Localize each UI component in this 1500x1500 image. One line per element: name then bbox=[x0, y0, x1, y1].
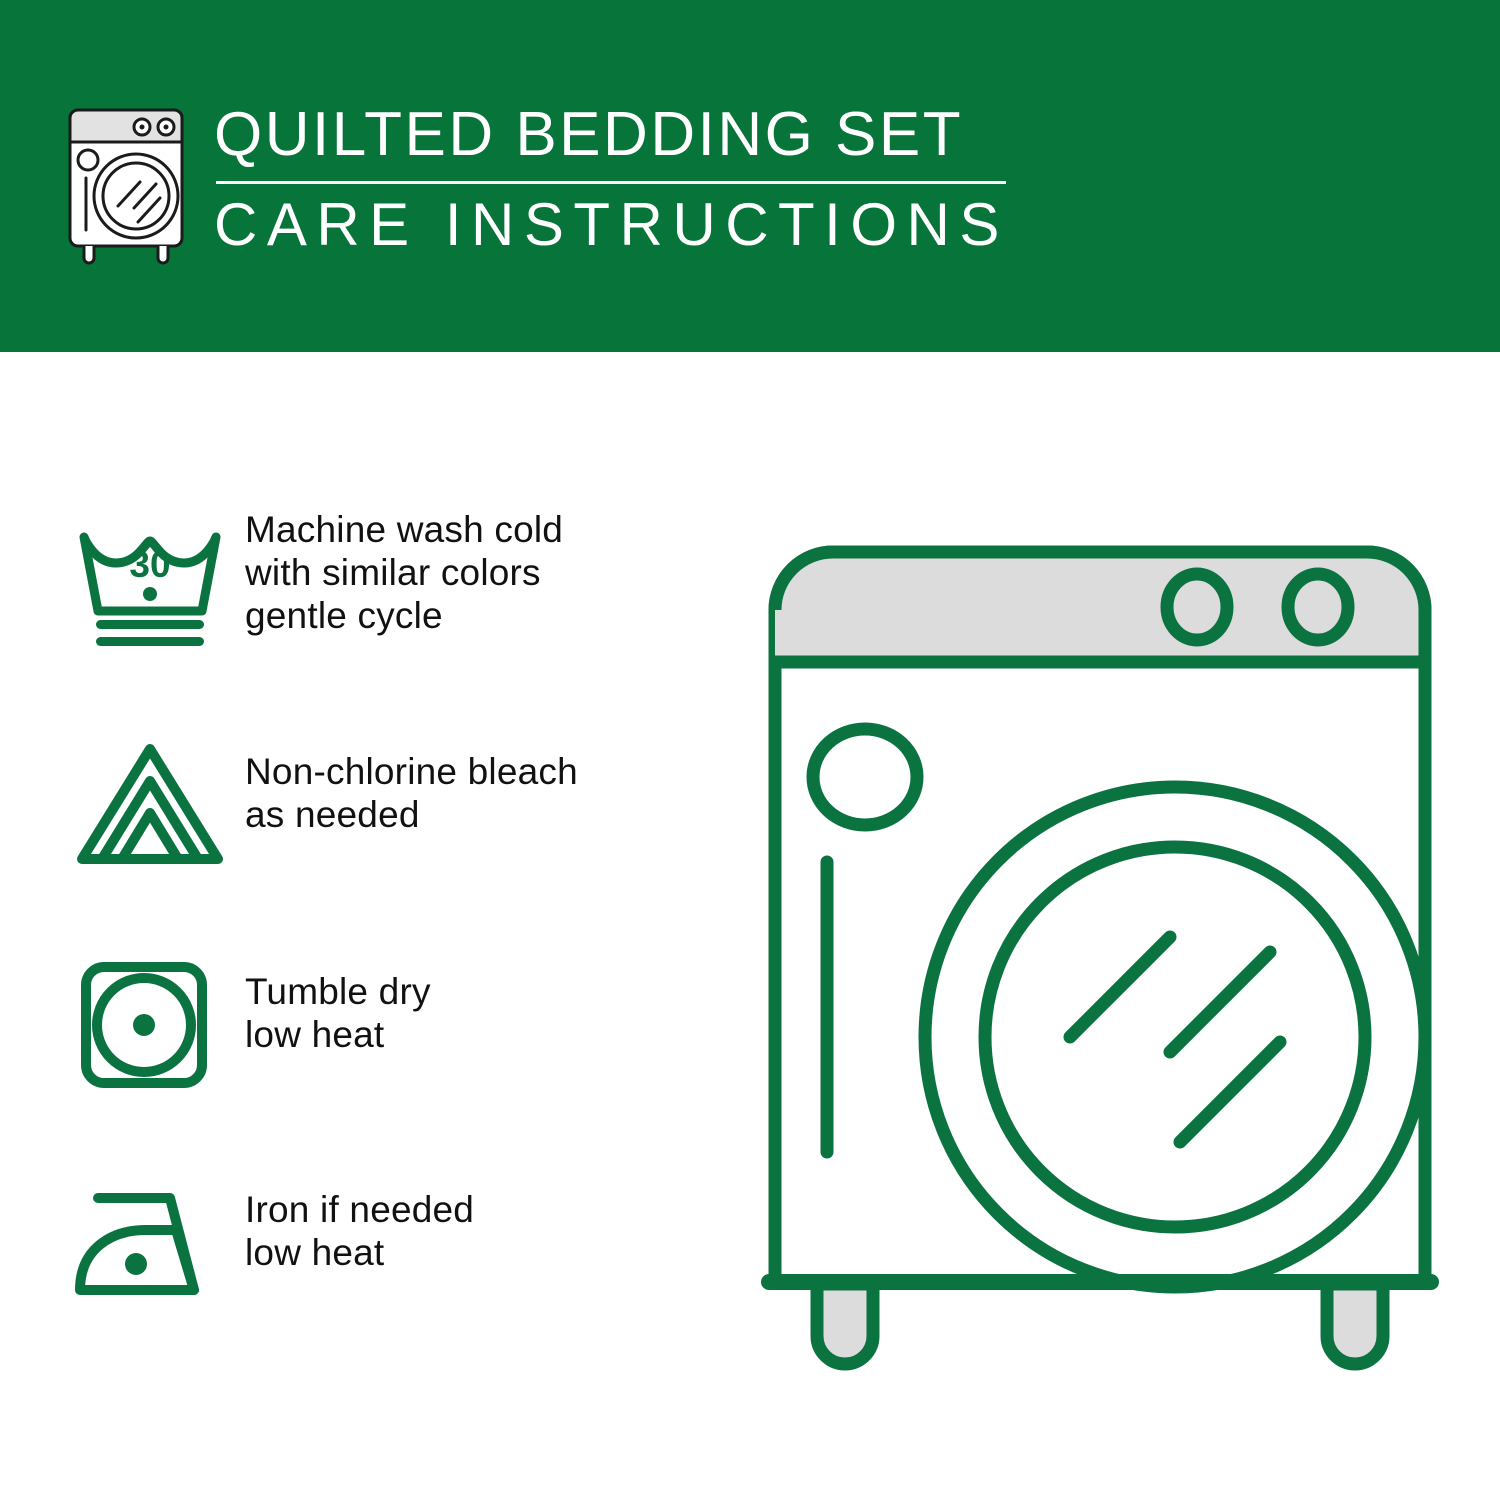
iron-low-heat-icon bbox=[70, 1162, 245, 1327]
care-item-iron: Iron if needed low heat bbox=[70, 1162, 710, 1382]
care-item-label: Iron if needed low heat bbox=[245, 1162, 710, 1274]
non-chlorine-bleach-triangle-icon bbox=[70, 722, 245, 887]
header-text-block: QUILTED BEDDING SET CARE INSTRUCTIONS bbox=[214, 98, 1009, 260]
wash-tub-30-gentle-icon: 30 bbox=[70, 502, 245, 667]
leg-left bbox=[817, 1284, 873, 1364]
leg-right bbox=[1327, 1284, 1383, 1364]
washing-machine-illustration bbox=[745, 492, 1455, 1392]
header-banner: QUILTED BEDDING SET CARE INSTRUCTIONS bbox=[0, 0, 1500, 352]
care-instruction-list: 30 Machine wash cold with similar colors… bbox=[70, 502, 710, 1382]
content-area: 30 Machine wash cold with similar colors… bbox=[0, 352, 1500, 1500]
wash-temp-value: 30 bbox=[129, 544, 170, 585]
care-item-machine-wash: 30 Machine wash cold with similar colors… bbox=[70, 502, 710, 722]
header-content: QUILTED BEDDING SET CARE INSTRUCTIONS bbox=[60, 96, 1009, 266]
washing-machine-icon bbox=[60, 96, 192, 266]
care-item-label: Non-chlorine bleach as needed bbox=[245, 722, 710, 836]
care-item-bleach: Non-chlorine bleach as needed bbox=[70, 722, 710, 942]
control-panel bbox=[775, 552, 1425, 662]
care-item-label: Machine wash cold with similar colors ge… bbox=[245, 502, 710, 637]
title-divider bbox=[216, 181, 1006, 184]
tumble-dry-low-icon bbox=[70, 942, 245, 1107]
care-item-tumble-dry: Tumble dry low heat bbox=[70, 942, 710, 1162]
care-item-label: Tumble dry low heat bbox=[245, 942, 710, 1056]
page-subtitle: CARE INSTRUCTIONS bbox=[214, 190, 1009, 260]
page-title: QUILTED BEDDING SET bbox=[214, 98, 1009, 172]
